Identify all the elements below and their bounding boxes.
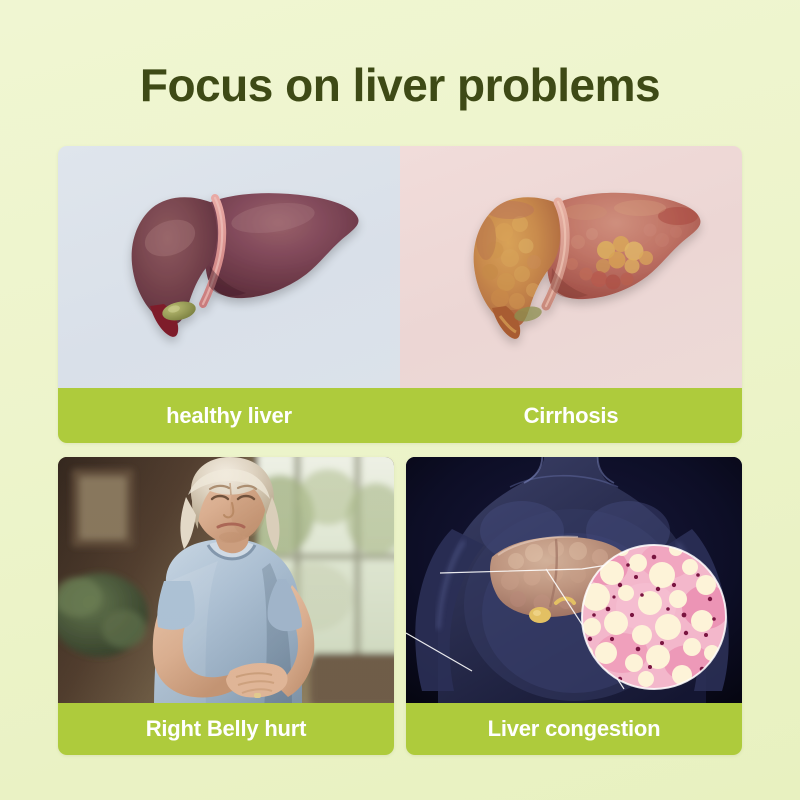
woman-abdominal-pain-photo <box>58 457 394 703</box>
page-title: Focus on liver problems <box>0 58 800 112</box>
caption-cirrhosis: Cirrhosis <box>400 388 742 443</box>
caption-healthy-liver: healthy liver <box>58 388 400 443</box>
liver-congestion-card: Liver congestion <box>406 457 742 755</box>
right-belly-hurt-card: Right Belly hurt <box>58 457 394 755</box>
top-comparison-row: healthy liver Cirrhosis <box>58 146 742 443</box>
healthy-liver-image <box>58 146 400 388</box>
top-images-strip <box>58 146 742 388</box>
top-caption-bar: healthy liver Cirrhosis <box>58 388 742 443</box>
cirrhotic-liver-illustration <box>400 146 742 388</box>
bottom-symptom-row: Right Belly hurt <box>58 457 742 755</box>
cirrhosis-liver-image <box>400 146 742 388</box>
healthy-liver-illustration <box>58 146 400 388</box>
fatty-liver-anatomy-render <box>406 457 742 703</box>
caption-right-belly-hurt: Right Belly hurt <box>58 703 394 755</box>
infographic-poster: Focus on liver problems <box>0 0 800 800</box>
caption-liver-congestion: Liver congestion <box>406 703 742 755</box>
